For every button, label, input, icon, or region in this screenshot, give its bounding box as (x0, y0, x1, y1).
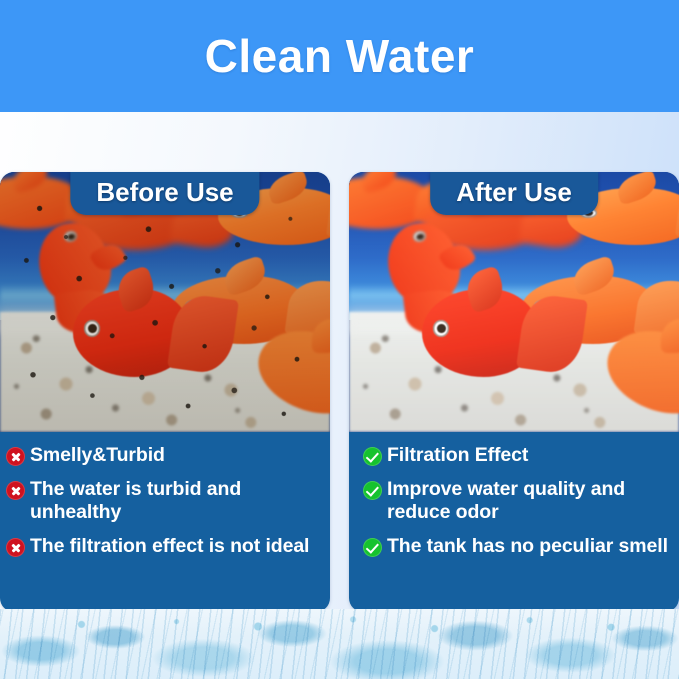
water-splash-footer (0, 609, 679, 679)
list-item-label: Smelly&Turbid (30, 444, 165, 467)
list-item-label: The tank has no peculiar smell (387, 535, 668, 558)
before-use-bullet-list: Smelly&Turbid The water is turbid and un… (0, 432, 330, 558)
check-mark-icon (363, 447, 382, 466)
x-mark-icon (6, 481, 25, 500)
product-comparison-infographic: Clean Water (0, 0, 679, 679)
x-mark-icon (6, 447, 25, 466)
goldfish-center (422, 289, 541, 377)
after-use-label: After Use (430, 172, 598, 215)
list-item-label: Filtration Effect (387, 444, 528, 467)
goldfish-center (73, 289, 192, 377)
list-item: Smelly&Turbid (6, 444, 320, 467)
after-use-card: After Use Filtration Effect Improve wate… (349, 172, 679, 612)
page-title: Clean Water (205, 33, 475, 79)
check-mark-icon (363, 481, 382, 500)
before-use-label: Before Use (70, 172, 259, 215)
list-item-label: The water is turbid and unhealthy (30, 478, 320, 524)
x-mark-icon (6, 538, 25, 557)
after-use-photo: After Use (349, 172, 679, 432)
comparison-cards: Before Use Smelly&Turbid The water is tu… (0, 172, 679, 612)
before-use-card: Before Use Smelly&Turbid The water is tu… (0, 172, 330, 612)
list-item: Filtration Effect (363, 444, 671, 467)
list-item: The water is turbid and unhealthy (6, 478, 320, 524)
header-banner: Clean Water (0, 0, 679, 112)
check-mark-icon (363, 538, 382, 557)
list-item-label: Improve water quality and reduce odor (387, 478, 671, 524)
list-item: The filtration effect is not ideal (6, 535, 320, 558)
after-use-bullet-list: Filtration Effect Improve water quality … (349, 432, 679, 558)
list-item: Improve water quality and reduce odor (363, 478, 671, 524)
list-item-label: The filtration effect is not ideal (30, 535, 309, 558)
list-item: The tank has no peculiar smell (363, 535, 671, 558)
before-use-photo: Before Use (0, 172, 330, 432)
